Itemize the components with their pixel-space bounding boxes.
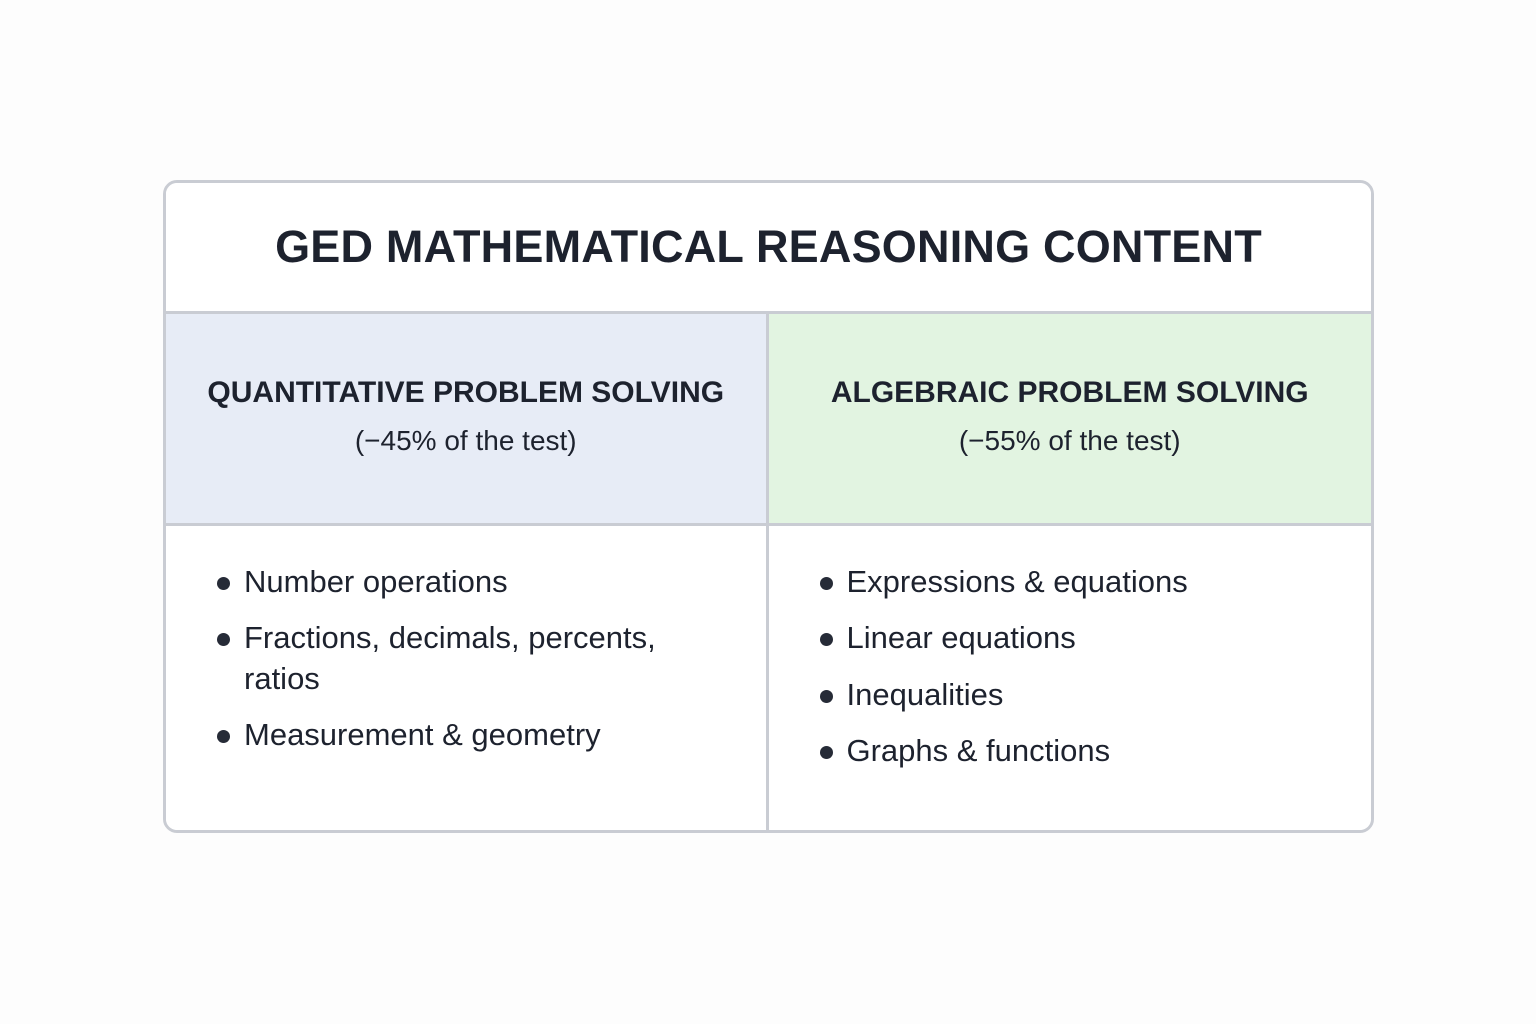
topic-list-quantitative: Number operations Fractions, decimals, p…: [194, 562, 740, 755]
content-breakdown-card: GED MATHEMATICAL REASONING CONTENT QUANT…: [163, 180, 1374, 833]
column-headers-row: QUANTITATIVE PROBLEM SOLVING (−45% of th…: [166, 314, 1371, 526]
topic-list-algebraic: Expressions & equations Linear equations…: [797, 562, 1346, 771]
bullet-dot-icon: [217, 633, 230, 646]
bullet-dot-icon: [820, 746, 833, 759]
list-item-label: Graphs & functions: [847, 731, 1346, 771]
list-item-label: Linear equations: [847, 618, 1346, 658]
bullet-dot-icon: [217, 577, 230, 590]
list-item: Fractions, decimals, percents, ratios: [194, 618, 740, 699]
card-title-row: GED MATHEMATICAL REASONING CONTENT: [166, 183, 1371, 314]
list-item: Expressions & equations: [797, 562, 1346, 602]
page-title: GED MATHEMATICAL REASONING CONTENT: [275, 223, 1262, 270]
column-header-algebraic-problem-solving: ALGEBRAIC PROBLEM SOLVING (−55% of the t…: [769, 314, 1372, 523]
column-bodies-row: Number operations Fractions, decimals, p…: [166, 526, 1371, 830]
column-heading-quantitative: QUANTITATIVE PROBLEM SOLVING: [207, 375, 724, 412]
column-subheading-algebraic: (−55% of the test): [959, 423, 1181, 458]
bullet-dot-icon: [217, 730, 230, 743]
bullet-dot-icon: [820, 577, 833, 590]
list-item: Graphs & functions: [797, 731, 1346, 771]
column-body-quantitative-problem-solving: Number operations Fractions, decimals, p…: [166, 526, 769, 830]
list-item-label: Number operations: [244, 562, 740, 602]
column-heading-algebraic: ALGEBRAIC PROBLEM SOLVING: [831, 375, 1309, 412]
diagram-canvas: GED MATHEMATICAL REASONING CONTENT QUANT…: [0, 0, 1536, 1024]
list-item: Inequalities: [797, 675, 1346, 715]
list-item: Measurement & geometry: [194, 715, 740, 755]
column-header-quantitative-problem-solving: QUANTITATIVE PROBLEM SOLVING (−45% of th…: [166, 314, 769, 523]
list-item-label: Measurement & geometry: [244, 715, 740, 755]
list-item-label: Inequalities: [847, 675, 1346, 715]
list-item: Number operations: [194, 562, 740, 602]
bullet-dot-icon: [820, 633, 833, 646]
column-subheading-quantitative: (−45% of the test): [355, 423, 577, 458]
list-item-label: Expressions & equations: [847, 562, 1346, 602]
column-body-algebraic-problem-solving: Expressions & equations Linear equations…: [769, 526, 1372, 830]
list-item: Linear equations: [797, 618, 1346, 658]
bullet-dot-icon: [820, 690, 833, 703]
list-item-label: Fractions, decimals, percents, ratios: [244, 618, 740, 699]
